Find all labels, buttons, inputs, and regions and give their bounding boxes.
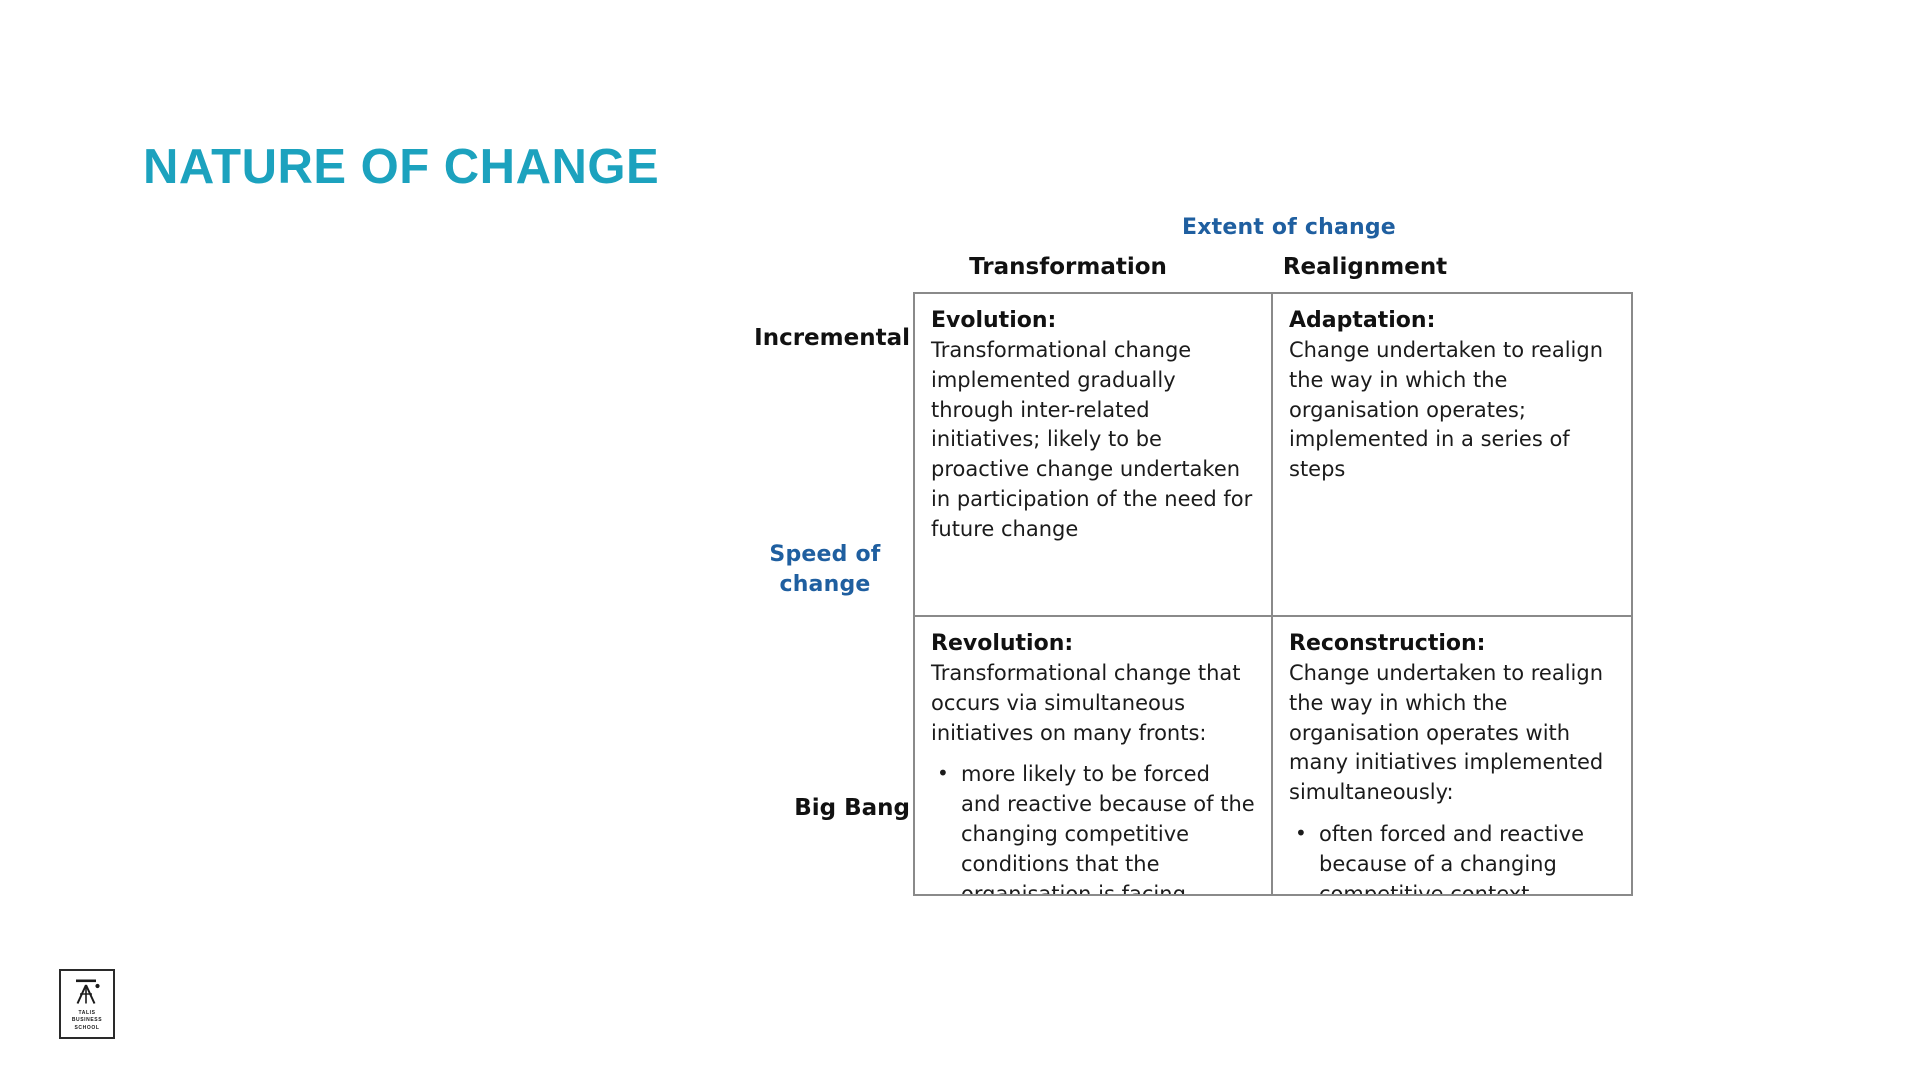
talis-business-school-logo: Talis Business School	[59, 969, 115, 1039]
list-item: more likely to be forced and reactive be…	[957, 760, 1255, 894]
cell-body-revolution: Transformational change that occurs via …	[931, 659, 1255, 748]
page-title: NATURE OF CHANGE	[143, 142, 659, 193]
column-header-transformation: Transformation	[923, 254, 1213, 280]
list-item: often forced and reactive because of a c…	[1315, 820, 1615, 894]
matrix-cell-reconstruction: Reconstruction: Change undertaken to rea…	[1273, 617, 1631, 894]
cell-body-evolution: Transformational change implemented grad…	[931, 336, 1255, 545]
axis-label-extent-of-change: Extent of change	[1182, 215, 1396, 240]
row-header-big-bang: Big Bang	[750, 795, 910, 821]
cell-title-revolution: Revolution:	[931, 631, 1255, 657]
cell-bullets-reconstruction: often forced and reactive because of a c…	[1289, 820, 1615, 894]
nature-of-change-matrix: Extent of change Speed of change Transfo…	[740, 205, 1640, 935]
column-header-realignment: Realignment	[1220, 254, 1510, 280]
cell-title-evolution: Evolution:	[931, 308, 1255, 334]
logo-line-3: School	[72, 1025, 102, 1032]
logo-line-2: Business	[72, 1017, 102, 1024]
cell-body-adaptation: Change undertaken to realign the way in …	[1289, 336, 1615, 485]
matrix-grid: Evolution: Transformational change imple…	[913, 292, 1633, 896]
row-header-incremental: Incremental	[750, 325, 910, 351]
logo-wordmark: Talis Business School	[72, 1010, 102, 1032]
matrix-cell-evolution: Evolution: Transformational change imple…	[915, 294, 1273, 617]
axis-label-speed-line2: change	[740, 570, 910, 600]
logo-line-1: Talis	[72, 1010, 102, 1017]
axis-label-speed-line1: Speed of	[740, 540, 910, 570]
cell-bullets-revolution: more likely to be forced and reactive be…	[931, 760, 1255, 894]
cell-title-reconstruction: Reconstruction:	[1289, 631, 1615, 657]
talis-logo-icon	[70, 978, 104, 1008]
matrix-cell-adaptation: Adaptation: Change undertaken to realign…	[1273, 294, 1631, 617]
axis-label-speed-of-change: Speed of change	[740, 540, 910, 601]
cell-title-adaptation: Adaptation:	[1289, 308, 1615, 334]
cell-body-reconstruction: Change undertaken to realign the way in …	[1289, 659, 1615, 808]
matrix-cell-revolution: Revolution: Transformational change that…	[915, 617, 1273, 894]
